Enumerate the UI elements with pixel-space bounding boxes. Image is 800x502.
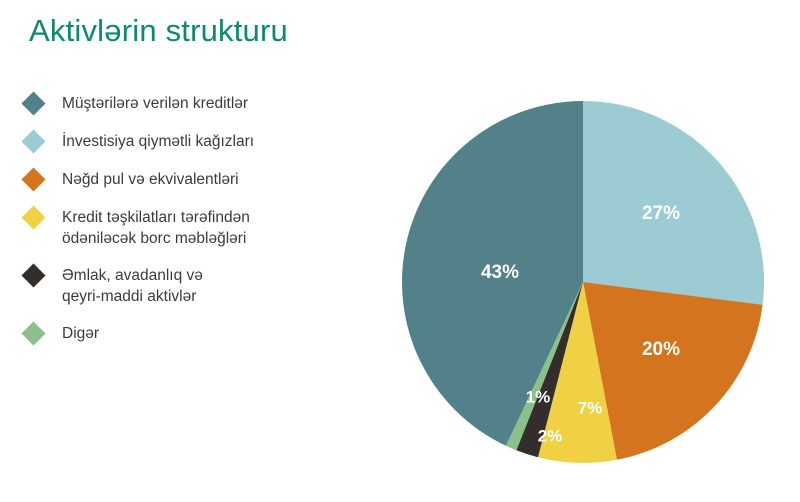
legend-item-label: Müştərilərə verilən kreditlər <box>62 93 248 114</box>
legend-item-label: İnvestisiya qiymətli kağızları <box>62 131 254 152</box>
pie-slice-label: 27% <box>642 203 680 224</box>
diamond-icon <box>21 129 45 153</box>
pie-chart-figure: Aktivlərin strukturu Müştərilərə verilən… <box>0 0 800 502</box>
pie-chart-svg: 27%20%7%2%1%43% <box>400 98 770 468</box>
pie-chart: 27%20%7%2%1%43% <box>400 98 770 468</box>
legend-item[interactable]: Kredit təşkilatları tərəfindən ödəniləcə… <box>25 207 375 249</box>
chart-legend: Müştərilərə verilən kreditlərİnvestisiya… <box>25 93 375 361</box>
pie-slice-label: 20% <box>642 339 680 360</box>
legend-item-label: Digər <box>62 323 99 344</box>
pie-slice-label: 2% <box>538 426 563 445</box>
legend-item-label: Əmlak, avadanlıq və qeyri-maddi aktivlər <box>62 265 203 307</box>
legend-item-label: Nəğd pul və ekvivalentləri <box>62 169 239 190</box>
legend-item[interactable]: Müştərilərə verilən kreditlər <box>25 93 375 114</box>
legend-item-label: Kredit təşkilatları tərəfindən ödəniləcə… <box>62 207 250 249</box>
diamond-icon <box>21 263 45 287</box>
pie-slice-label: 1% <box>526 387 551 406</box>
pie-slice-label: 43% <box>481 262 519 283</box>
diamond-icon <box>21 91 45 115</box>
diamond-icon <box>21 321 45 345</box>
legend-item[interactable]: Digər <box>25 323 375 344</box>
diamond-icon <box>21 167 45 191</box>
legend-item[interactable]: Əmlak, avadanlıq və qeyri-maddi aktivlər <box>25 265 375 307</box>
legend-item[interactable]: İnvestisiya qiymətli kağızları <box>25 131 375 152</box>
diamond-icon <box>21 205 45 229</box>
legend-item[interactable]: Nəğd pul və ekvivalentləri <box>25 169 375 190</box>
page-title: Aktivlərin strukturu <box>29 13 288 49</box>
pie-slice-label: 7% <box>578 398 603 417</box>
